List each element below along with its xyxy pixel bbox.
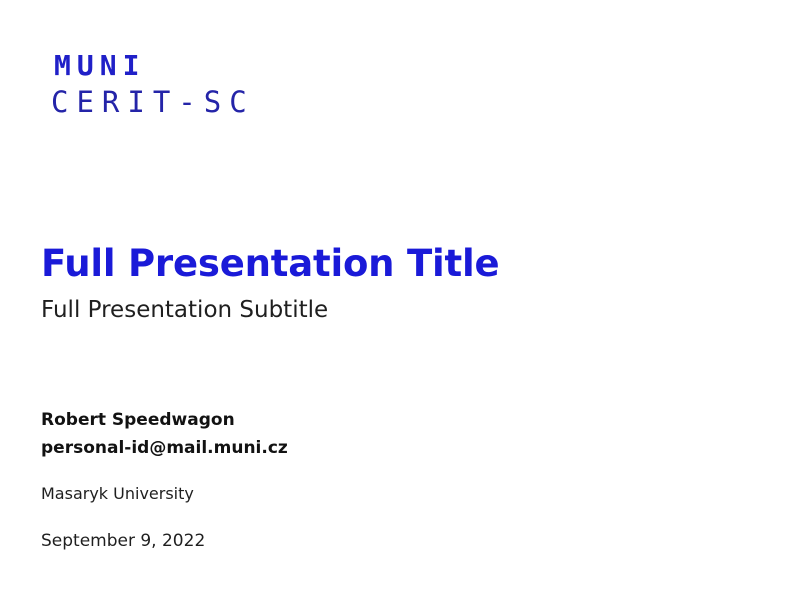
presentation-date: September 9, 2022 bbox=[41, 530, 741, 552]
muni-cerit-sc-logo: MUNI CERIT-SC bbox=[53, 52, 255, 117]
title-block: Full Presentation Title Full Presentatio… bbox=[41, 243, 741, 325]
institution-name: Masaryk University bbox=[41, 484, 741, 505]
page-subtitle: Full Presentation Subtitle bbox=[41, 297, 741, 325]
presentation-title-slide: MUNI CERIT-SC Full Presentation Title Fu… bbox=[0, 0, 794, 596]
page-title: Full Presentation Title bbox=[41, 243, 741, 284]
author-meta-block: Robert Speedwagon personal-id@mail.muni.… bbox=[41, 407, 741, 552]
author-name: Robert Speedwagon bbox=[41, 407, 741, 435]
logo-cerit-sc-wordmark: CERIT-SC bbox=[51, 88, 255, 117]
logo-muni-wordmark: MUNI bbox=[54, 52, 255, 80]
author-email: personal-id@mail.muni.cz bbox=[41, 435, 741, 463]
